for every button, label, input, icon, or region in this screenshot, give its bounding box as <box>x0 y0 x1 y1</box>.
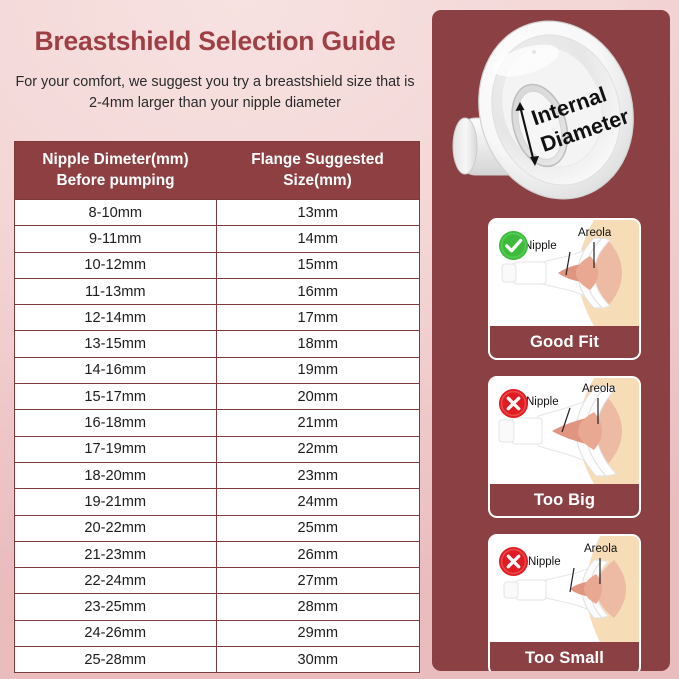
column-header-flange-size: Flange Suggested Size(mm) <box>216 142 419 200</box>
column-header-nipple-diameter-line2: Before pumping <box>17 170 214 191</box>
too-big-areola-label: Areola <box>582 383 616 395</box>
table-row: 18-20mm23mm <box>15 462 419 488</box>
cell-flange-size: 29mm <box>216 620 419 646</box>
cell-nipple-diameter: 22-24mm <box>15 568 216 594</box>
cell-flange-size: 18mm <box>216 331 419 357</box>
table-row: 10-12mm15mm <box>15 252 419 278</box>
good-fit-areola-label: Areola <box>578 227 612 239</box>
cell-nipple-diameter: 14-16mm <box>15 357 216 383</box>
page-title: Breastshield Selection Guide <box>0 26 430 57</box>
too-big-nipple-label: Nipple <box>526 396 559 408</box>
cell-flange-size: 15mm <box>216 252 419 278</box>
fit-card-good-fit[interactable]: Areola Nipple Good Fit <box>488 218 641 360</box>
cell-flange-size: 23mm <box>216 462 419 488</box>
fit-card-too-big[interactable]: Areola Nipple Too Big <box>488 376 641 518</box>
cell-nipple-diameter: 21-23mm <box>15 541 216 567</box>
cell-flange-size: 30mm <box>216 647 419 673</box>
cell-nipple-diameter: 20-22mm <box>15 515 216 541</box>
size-chart-table: Nipple Dimeter(mm) Before pumping Flange… <box>14 141 420 673</box>
cell-flange-size: 14mm <box>216 226 419 252</box>
table-row: 25-28mm30mm <box>15 647 419 673</box>
cell-flange-size: 25mm <box>216 515 419 541</box>
fit-card-too-small[interactable]: Areola Nipple Too Small <box>488 534 641 671</box>
cell-flange-size: 21mm <box>216 410 419 436</box>
cell-flange-size: 27mm <box>216 568 419 594</box>
too-small-nipple-label: Nipple <box>528 556 561 568</box>
table-row: 12-14mm17mm <box>15 305 419 331</box>
cell-nipple-diameter: 23-25mm <box>15 594 216 620</box>
cell-nipple-diameter: 8-10mm <box>15 200 216 226</box>
column-header-nipple-diameter-line1: Nipple Dimeter(mm) <box>17 149 214 170</box>
cell-nipple-diameter: 18-20mm <box>15 462 216 488</box>
table-row: 17-19mm22mm <box>15 436 419 462</box>
left-content-column: Breastshield Selection Guide For your co… <box>0 0 430 679</box>
green-check-circle-icon <box>498 230 529 261</box>
breastshield-product-photo: Internal Diameter <box>432 14 670 210</box>
fit-card-label-too-big: Too Big <box>490 484 639 516</box>
table-row: 8-10mm13mm <box>15 200 419 226</box>
good-fit-illustration: Areola Nipple <box>490 220 639 326</box>
cell-nipple-diameter: 17-19mm <box>15 436 216 462</box>
cell-nipple-diameter: 15-17mm <box>15 384 216 410</box>
cell-flange-size: 28mm <box>216 594 419 620</box>
table-row: 16-18mm21mm <box>15 410 419 436</box>
table-row: 14-16mm19mm <box>15 357 419 383</box>
fit-card-label-good-fit: Good Fit <box>490 326 639 358</box>
cell-flange-size: 26mm <box>216 541 419 567</box>
table-header-row: Nipple Dimeter(mm) Before pumping Flange… <box>15 142 419 200</box>
too-small-illustration: Areola Nipple <box>490 536 639 642</box>
too-big-illustration: Areola Nipple <box>490 378 639 484</box>
table-body: 8-10mm13mm9-11mm14mm10-12mm15mm11-13mm16… <box>15 200 419 673</box>
cell-nipple-diameter: 12-14mm <box>15 305 216 331</box>
column-header-flange-size-line2: Size(mm) <box>218 170 417 191</box>
breastshield-selection-guide-page: Breastshield Selection Guide For your co… <box>0 0 679 679</box>
page-subtitle: For your comfort, we suggest you try a b… <box>12 72 418 114</box>
cell-nipple-diameter: 10-12mm <box>15 252 216 278</box>
table-row: 23-25mm28mm <box>15 594 419 620</box>
table-row: 19-21mm24mm <box>15 489 419 515</box>
cell-nipple-diameter: 11-13mm <box>15 278 216 304</box>
table-row: 13-15mm18mm <box>15 331 419 357</box>
cell-flange-size: 19mm <box>216 357 419 383</box>
fit-card-label-too-small: Too Small <box>490 642 639 671</box>
right-illustration-panel: Internal Diameter <box>432 10 670 671</box>
column-header-flange-size-line1: Flange Suggested <box>218 149 417 170</box>
red-x-circle-icon <box>498 546 529 577</box>
cell-nipple-diameter: 13-15mm <box>15 331 216 357</box>
table-row: 9-11mm14mm <box>15 226 419 252</box>
cell-flange-size: 13mm <box>216 200 419 226</box>
cell-flange-size: 20mm <box>216 384 419 410</box>
table-row: 15-17mm20mm <box>15 384 419 410</box>
cell-flange-size: 24mm <box>216 489 419 515</box>
table-row: 21-23mm26mm <box>15 541 419 567</box>
table-row: 24-26mm29mm <box>15 620 419 646</box>
cell-flange-size: 17mm <box>216 305 419 331</box>
cell-nipple-diameter: 25-28mm <box>15 647 216 673</box>
too-small-areola-label: Areola <box>584 543 618 555</box>
cell-nipple-diameter: 19-21mm <box>15 489 216 515</box>
table-row: 11-13mm16mm <box>15 278 419 304</box>
table-row: 20-22mm25mm <box>15 515 419 541</box>
cell-nipple-diameter: 24-26mm <box>15 620 216 646</box>
cell-nipple-diameter: 16-18mm <box>15 410 216 436</box>
column-header-nipple-diameter: Nipple Dimeter(mm) Before pumping <box>15 142 216 200</box>
table-row: 22-24mm27mm <box>15 568 419 594</box>
cell-flange-size: 22mm <box>216 436 419 462</box>
cell-flange-size: 16mm <box>216 278 419 304</box>
red-x-circle-icon <box>498 388 529 419</box>
cell-nipple-diameter: 9-11mm <box>15 226 216 252</box>
